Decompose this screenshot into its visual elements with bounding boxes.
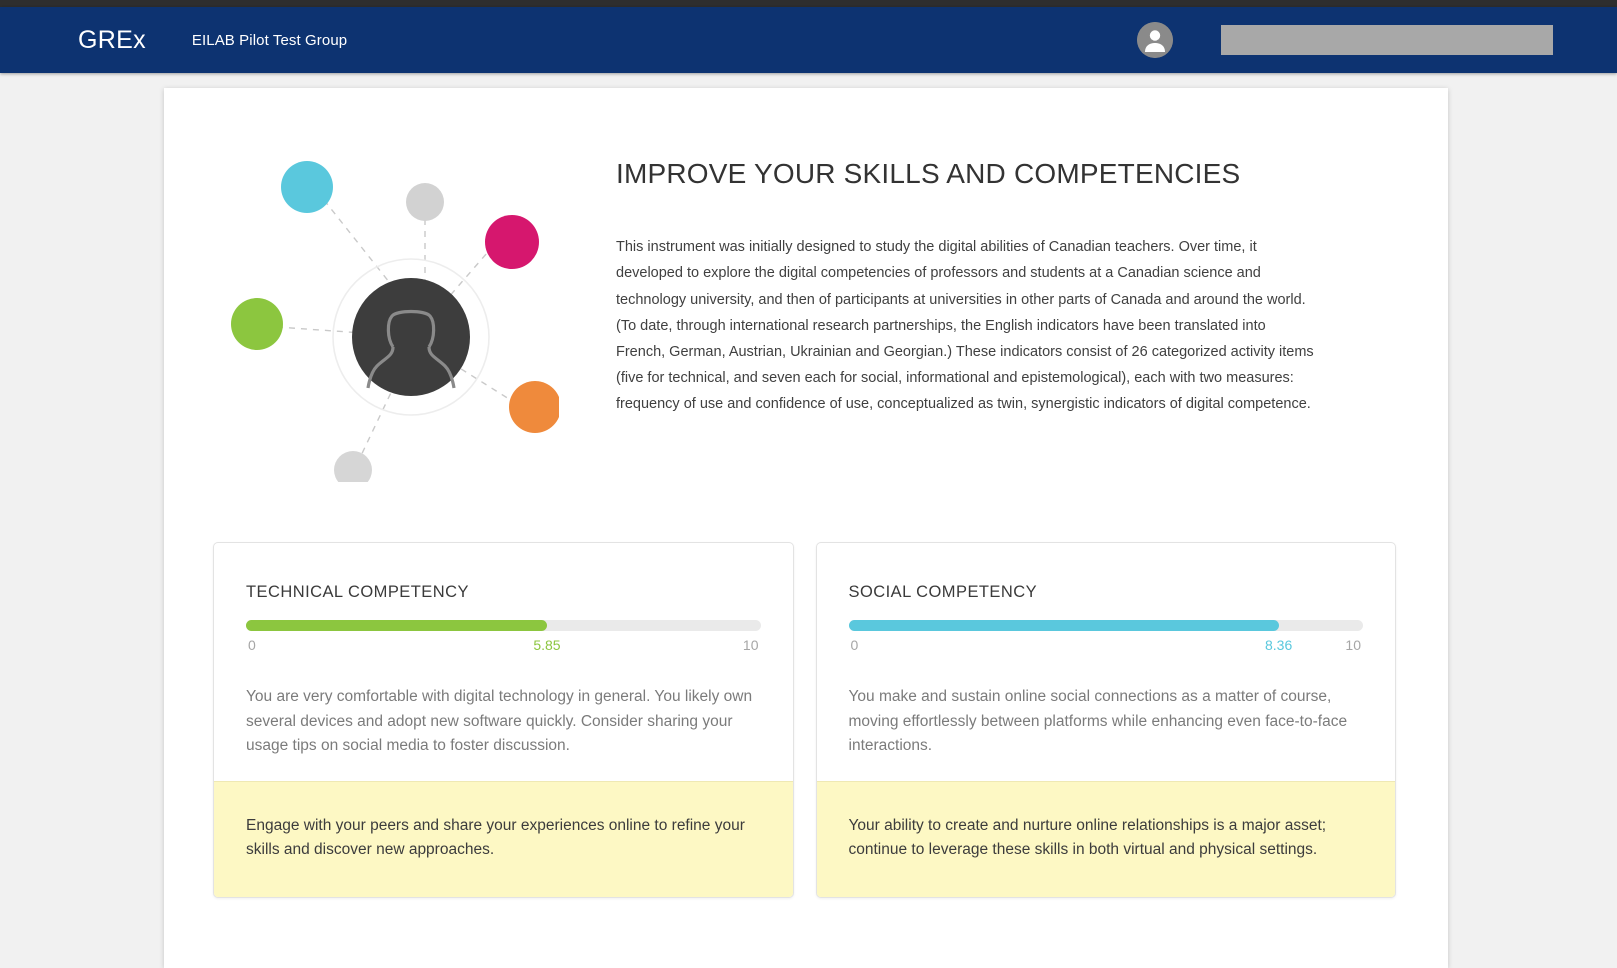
page-title: IMPROVE YOUR SKILLS AND COMPETENCIES [616,158,1388,190]
top-dark-strip [0,0,1617,7]
card-title-social: SOCIAL COMPETENCY [849,583,1364,602]
score-value-label: 8.36 [1265,637,1292,653]
node-gray-top-icon [406,183,444,221]
node-gray-bottom-icon [334,451,372,482]
node-orange-icon [509,381,559,433]
card-body: TECHNICAL COMPETENCY 0 5.85 10 You are v… [214,543,793,781]
main-content-panel: IMPROVE YOUR SKILLS AND COMPETENCIES Thi… [164,88,1448,968]
user-avatar[interactable] [1137,22,1173,58]
score-value-label: 5.85 [533,637,560,653]
score-meter-social [849,620,1364,631]
scale-min-label: 0 [248,637,256,653]
hero-section: IMPROVE YOUR SKILLS AND COMPETENCIES Thi… [164,88,1448,482]
score-meter-technical [246,620,761,631]
user-avatar-icon [1137,22,1173,58]
site-header: GREx EILAB Pilot Test Group [0,7,1617,73]
header-search-input[interactable] [1221,25,1553,55]
scale-min-label: 0 [851,637,859,653]
score-meter-fill [849,620,1279,631]
network-diagram [194,130,594,482]
card-tip-technical: Engage with your peers and share your ex… [214,781,793,897]
node-teal-icon [281,161,333,213]
card-title-technical: TECHNICAL COMPETENCY [246,583,761,602]
competency-card-social: SOCIAL COMPETENCY 0 8.36 10 You make and… [816,542,1397,898]
card-description-social: You make and sustain online social conne… [849,685,1364,759]
node-green-icon [231,298,283,350]
group-name-label: EILAB Pilot Test Group [192,32,347,49]
card-tip-social: Your ability to create and nurture onlin… [817,781,1396,897]
card-tip-text: Engage with your peers and share your ex… [246,814,761,863]
card-description-technical: You are very comfortable with digital te… [246,685,761,759]
card-tip-text: Your ability to create and nurture onlin… [849,814,1364,863]
competency-card-technical: TECHNICAL COMPETENCY 0 5.85 10 You are v… [213,542,794,898]
competency-cards-row: TECHNICAL COMPETENCY 0 5.85 10 You are v… [164,482,1448,898]
score-meter-labels: 0 5.85 10 [246,637,761,659]
hero-paragraph: This instrument was initially designed t… [616,234,1316,417]
network-of-people-diagram-icon [229,142,559,482]
header-right-cluster [1137,7,1617,73]
card-body: SOCIAL COMPETENCY 0 8.36 10 You make and… [817,543,1396,781]
score-meter-fill [246,620,547,631]
brand-logo[interactable]: GREx [78,28,146,53]
node-magenta-icon [485,215,539,269]
scale-max-label: 10 [1345,637,1361,653]
score-meter-labels: 0 8.36 10 [849,637,1364,659]
scale-max-label: 10 [743,637,759,653]
hero-copy: IMPROVE YOUR SKILLS AND COMPETENCIES Thi… [594,130,1388,418]
